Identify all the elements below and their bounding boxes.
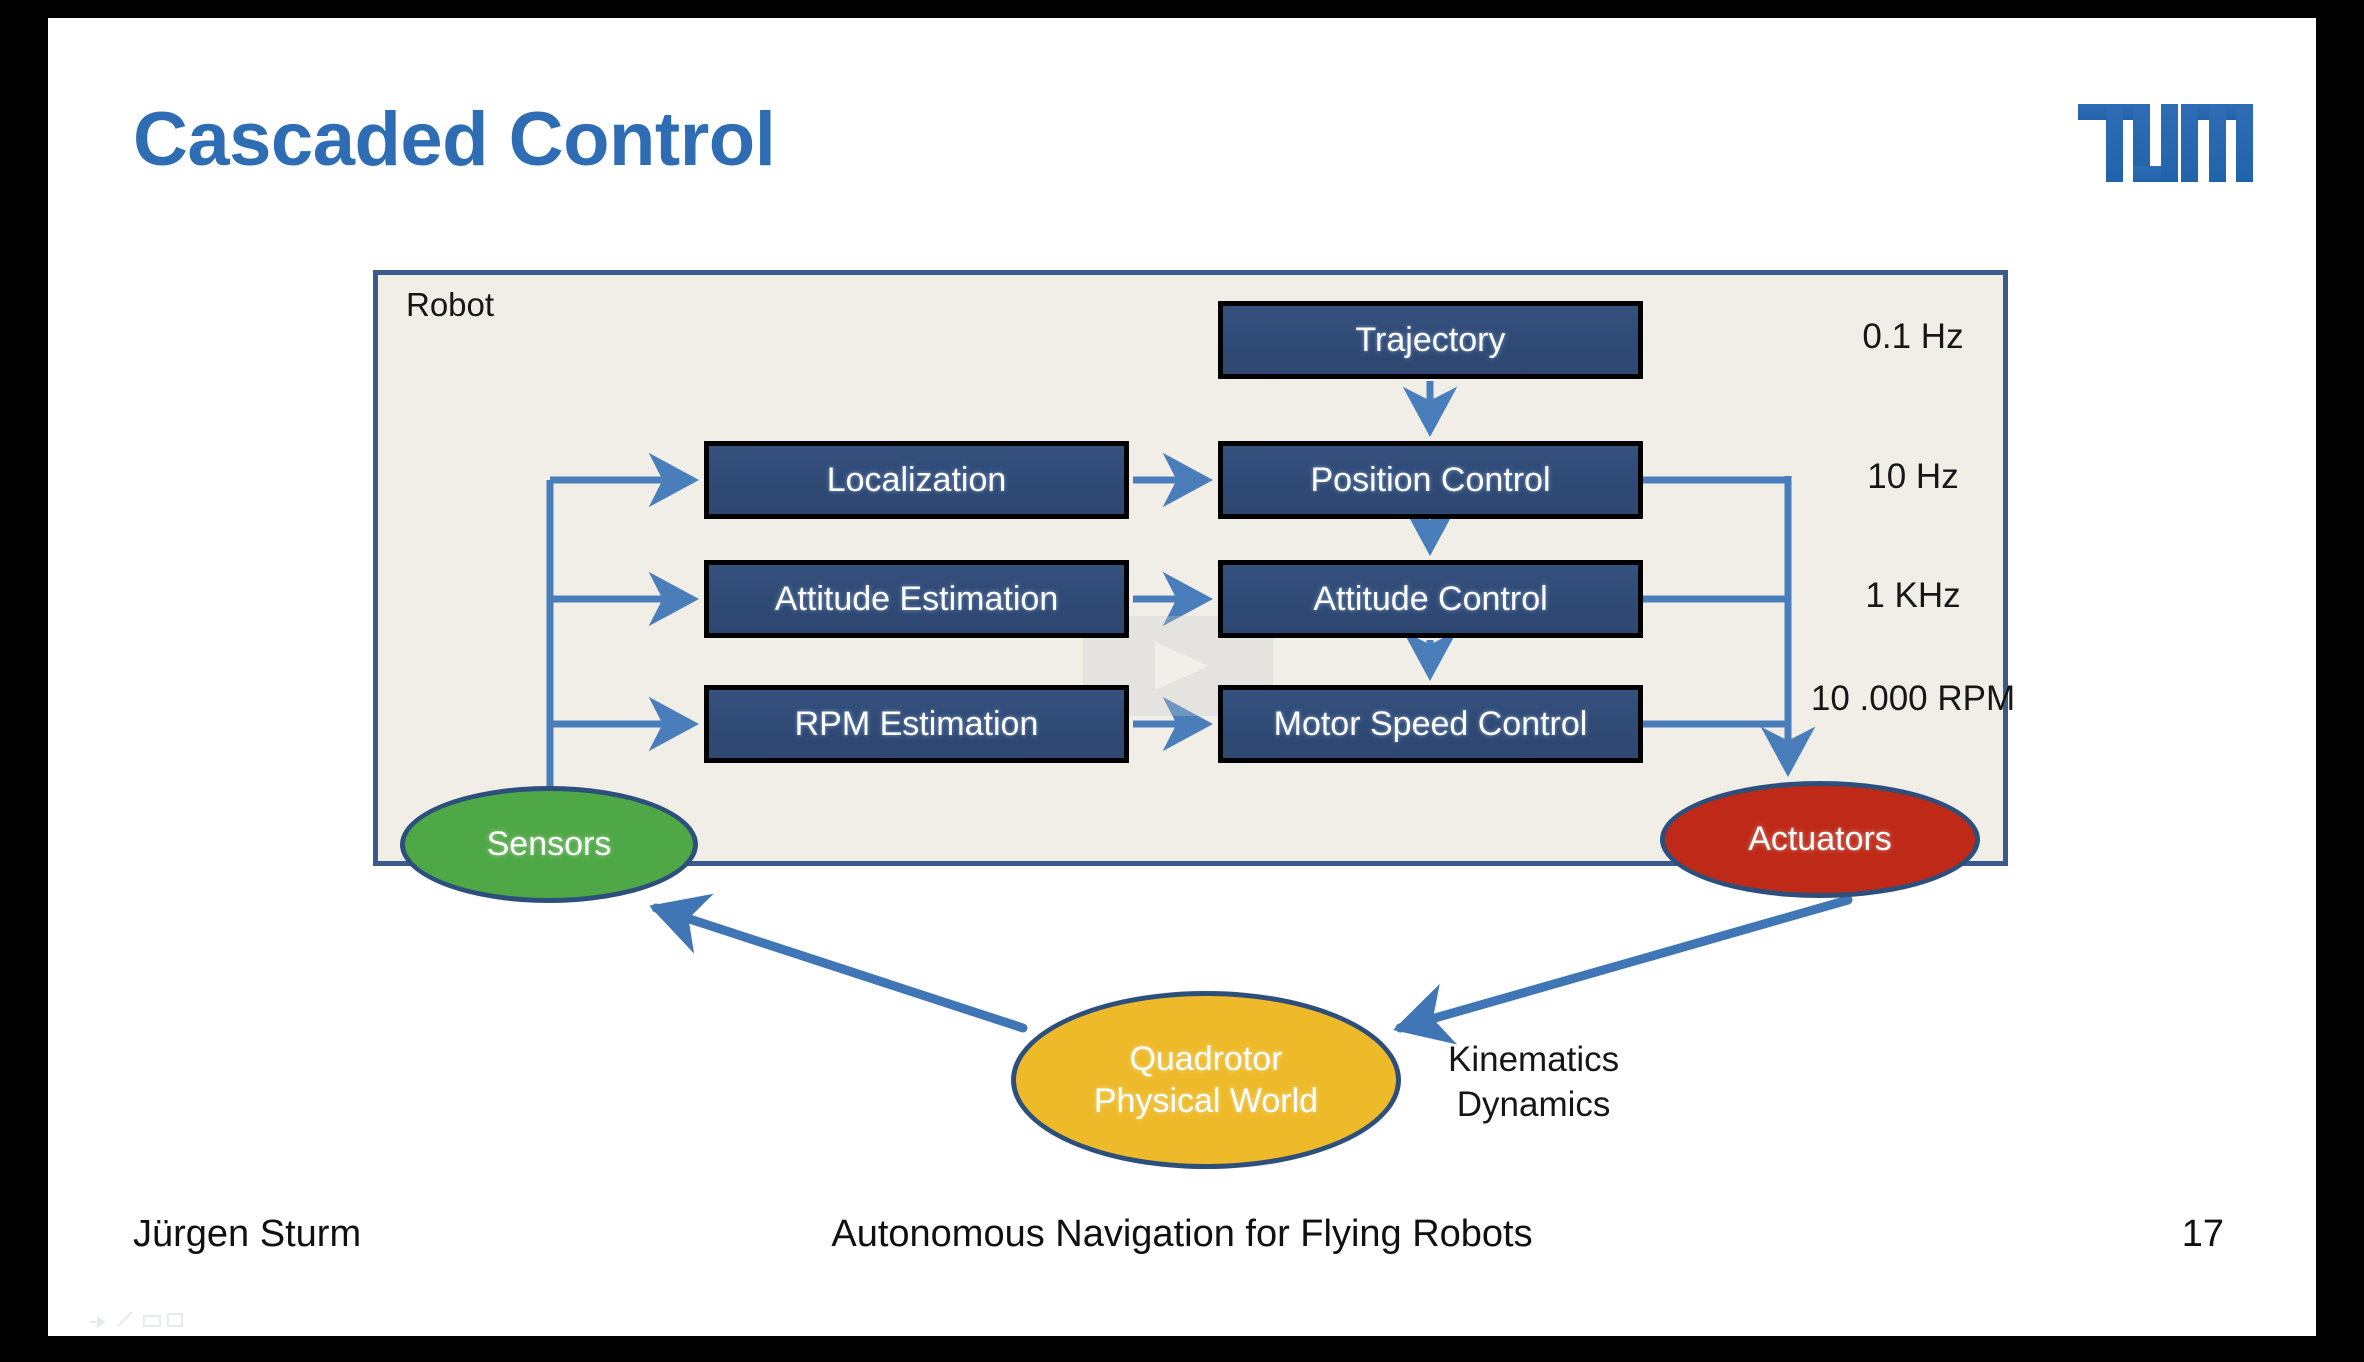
robot-container-label: Robot [406, 286, 494, 324]
node-sensors[interactable]: Sensors [400, 786, 698, 903]
slide-canvas: Cascaded Control [48, 18, 2316, 1336]
tum-logo-icon [2078, 104, 2253, 182]
video-controls-artifact[interactable] [88, 1306, 218, 1332]
rate-label-position: 10 Hz [1808, 457, 2018, 497]
node-quadrotor-line1: Quadrotor [1129, 1040, 1282, 1078]
node-quadrotor-line2: Physical World [1094, 1082, 1318, 1120]
rate-label-motor: 10 .000 RPM [1808, 678, 2018, 719]
node-actuators[interactable]: Actuators [1660, 781, 1980, 898]
footer-page-number: 17 [2182, 1213, 2224, 1256]
footer-course-title: Autonomous Navigation for Flying Robots [48, 1213, 2316, 1256]
block-attitude-estimation[interactable]: Attitude Estimation [704, 560, 1129, 638]
block-motor-speed-control[interactable]: Motor Speed Control [1218, 685, 1643, 763]
block-trajectory[interactable]: Trajectory [1218, 301, 1643, 379]
world-model-note-line1: Kinematics [1448, 1040, 1619, 1079]
block-position-control[interactable]: Position Control [1218, 441, 1643, 519]
robot-container [373, 270, 2008, 866]
rate-label-attitude: 1 KHz [1808, 576, 2018, 616]
block-attitude-control[interactable]: Attitude Control [1218, 560, 1643, 638]
block-localization[interactable]: Localization [704, 441, 1129, 519]
slide-viewer: Cascaded Control [0, 0, 2364, 1362]
block-rpm-estimation[interactable]: RPM Estimation [704, 685, 1129, 763]
node-quadrotor-label: Quadrotor Physical World [1094, 1038, 1318, 1122]
page-title: Cascaded Control [133, 96, 775, 183]
node-quadrotor-physical-world[interactable]: Quadrotor Physical World [1011, 991, 1401, 1169]
world-model-note: Kinematics Dynamics [1448, 1038, 1619, 1128]
world-model-note-line2: Dynamics [1457, 1085, 1611, 1124]
rate-label-trajectory: 0.1 Hz [1808, 317, 2018, 357]
